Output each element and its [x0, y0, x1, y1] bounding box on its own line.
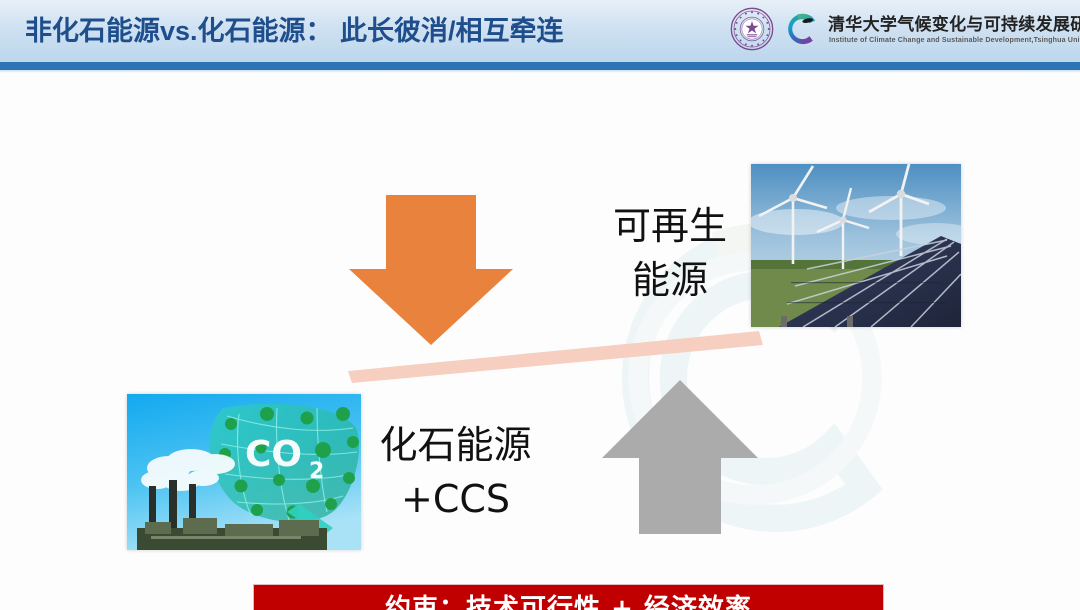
page-title: 非化石能源vs.化石能源： 此长彼消/相互牵连	[25, 12, 564, 50]
renewable-energy-label: 可再生 能源	[590, 199, 750, 307]
orange-down-arrow	[345, 195, 517, 347]
institute-name-cn: 清华大学气候变化与可持续发展研究院	[828, 10, 1080, 35]
fossil-label-line-2: +CCS	[358, 472, 553, 526]
constraint-banner: 约束：技术可行性 + 经济效率	[253, 584, 884, 610]
co2-capture-photo: CO 2	[127, 394, 361, 550]
fossil-label-line-1: 化石能源	[358, 418, 553, 472]
header-divider-rule	[0, 62, 1080, 70]
svg-text:CO: CO	[245, 434, 302, 475]
gray-up-arrow	[600, 378, 760, 536]
constraint-banner-text: 约束：技术可行性 + 经济效率	[385, 588, 752, 610]
climate-institute-c-logo-icon	[780, 7, 822, 51]
presentation-slide: 非化石能源vs.化石能源： 此长彼消/相互牵连	[0, 0, 1080, 610]
slide-body: CO 2	[0, 73, 1080, 610]
renewable-energy-photo	[751, 164, 961, 327]
fossil-energy-label: 化石能源 +CCS	[358, 418, 553, 526]
tsinghua-university-seal-icon	[730, 7, 774, 51]
institute-logo-lockup: 清华大学气候变化与可持续发展研究院 Institute of Climate C…	[728, 2, 1078, 58]
institute-name-en: Institute of Climate Change and Sustaina…	[829, 35, 1080, 44]
renewable-label-line-2: 能源	[590, 253, 750, 307]
renewable-label-line-1: 可再生	[590, 199, 750, 253]
svg-text:2: 2	[309, 459, 324, 484]
